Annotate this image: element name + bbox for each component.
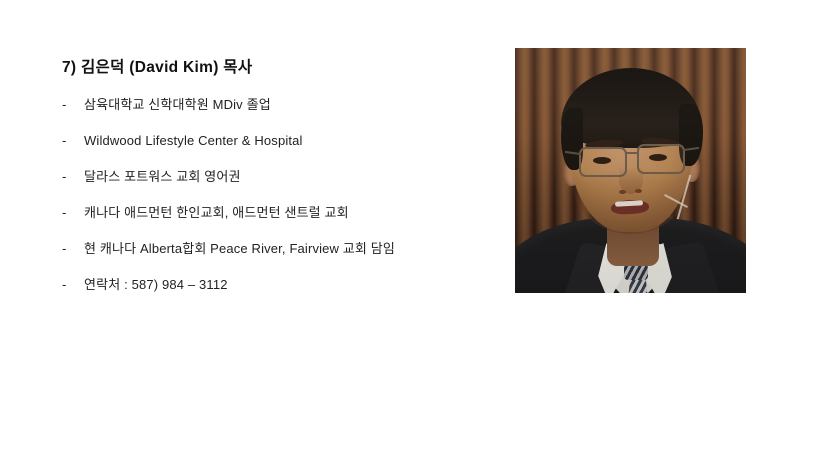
list-item-label: 달라스 포트워스 교회 영어권 bbox=[84, 169, 241, 185]
bullet-dash-icon: - bbox=[62, 169, 66, 185]
nostril-right bbox=[635, 189, 642, 193]
list-item-label: 캐나다 애드먼턴 한인교회, 애드먼턴 샌트럴 교회 bbox=[84, 205, 349, 221]
list-item: - 연락처 : 587) 984 – 3112 bbox=[62, 277, 492, 313]
list-item-label: 삼육대학교 신학대학원 MDiv 졸업 bbox=[84, 97, 271, 113]
list-item-label: 연락처 : 587) 984 – 3112 bbox=[84, 277, 228, 293]
list-item-label: Wildwood Lifestyle Center & Hospital bbox=[84, 133, 303, 149]
eye-right bbox=[649, 154, 667, 161]
list-item: - 달라스 포트워스 교회 영어권 bbox=[62, 169, 492, 205]
bullet-dash-icon: - bbox=[62, 277, 66, 293]
bullet-dash-icon: - bbox=[62, 133, 66, 149]
bullet-list: - 삼육대학교 신학대학원 MDiv 졸업 - Wildwood Lifesty… bbox=[62, 97, 492, 313]
eyeglasses-bridge bbox=[625, 152, 639, 154]
bullet-dash-icon: - bbox=[62, 97, 66, 113]
necktie-knot bbox=[624, 264, 648, 280]
bullet-dash-icon: - bbox=[62, 241, 66, 257]
bullet-dash-icon: - bbox=[62, 205, 66, 221]
list-item: - 삼육대학교 신학대학원 MDiv 졸업 bbox=[62, 97, 492, 133]
list-item-label: 현 캐나다 Alberta합회 Peace River, Fairview 교회… bbox=[84, 241, 395, 257]
list-item: - 현 캐나다 Alberta합회 Peace River, Fairview … bbox=[62, 241, 492, 277]
eye-left bbox=[593, 157, 611, 164]
list-item: - 캐나다 애드먼턴 한인교회, 애드먼턴 샌트럴 교회 bbox=[62, 205, 492, 241]
page-title: 7) 김은덕 (David Kim) 목사 bbox=[62, 58, 492, 78]
nostril-left bbox=[619, 190, 626, 194]
list-item: - Wildwood Lifestyle Center & Hospital bbox=[62, 133, 492, 169]
portrait-photo bbox=[515, 48, 746, 293]
slide-canvas: 7) 김은덕 (David Kim) 목사 - 삼육대학교 신학대학원 MDiv… bbox=[0, 0, 819, 460]
text-content-block: 7) 김은덕 (David Kim) 목사 - 삼육대학교 신학대학원 MDiv… bbox=[62, 58, 492, 313]
